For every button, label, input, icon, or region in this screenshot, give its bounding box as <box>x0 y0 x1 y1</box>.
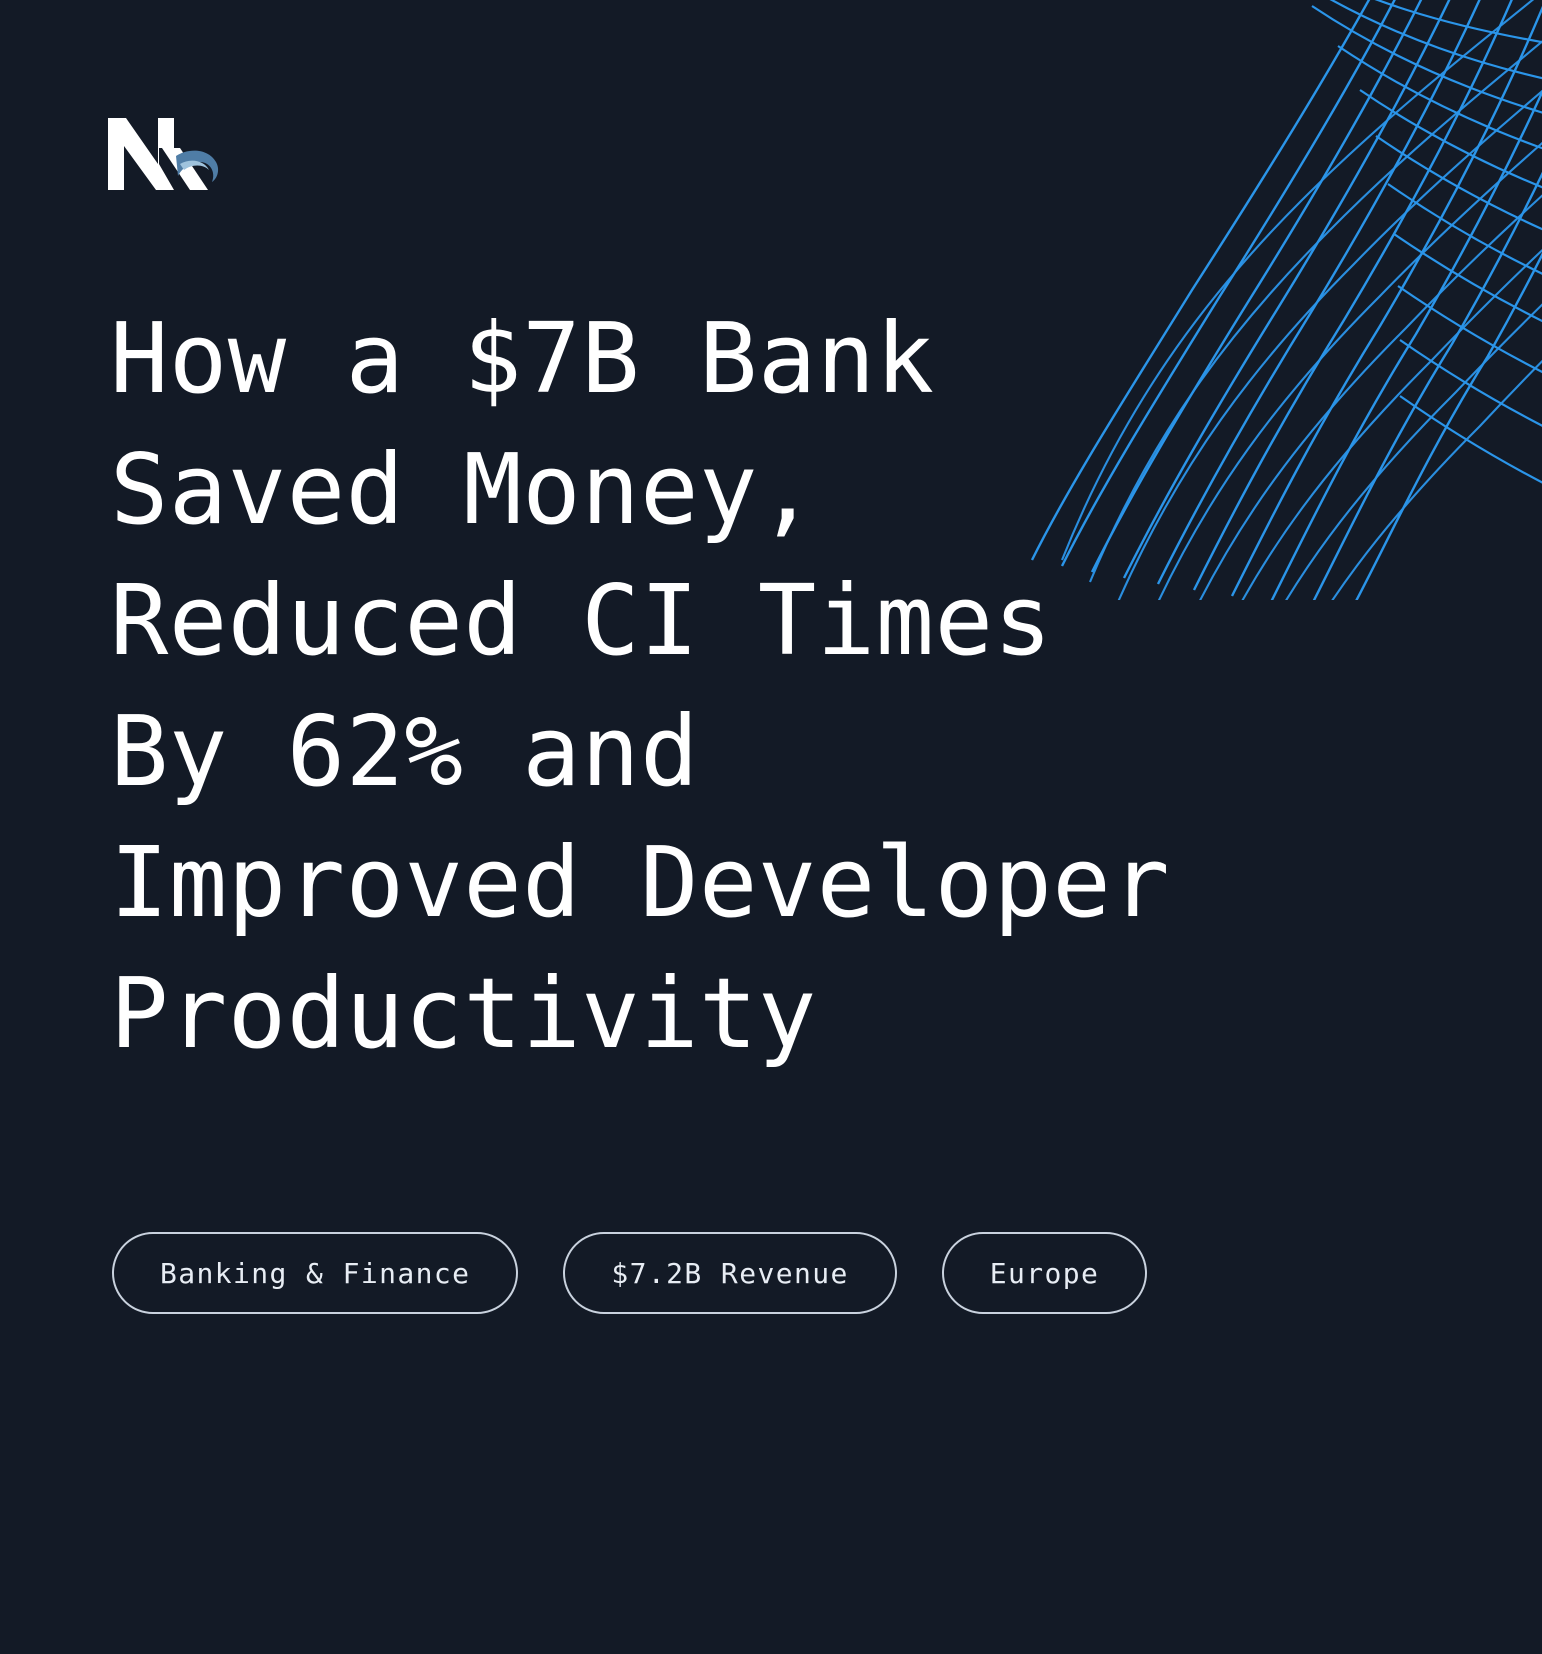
tag-list: Banking & Finance $7.2B Revenue Europe <box>112 1232 1147 1314</box>
tag-pill-industry[interactable]: Banking & Finance <box>112 1232 518 1314</box>
nx-logo[interactable] <box>104 112 228 194</box>
tag-pill-region[interactable]: Europe <box>942 1232 1148 1314</box>
tag-pill-revenue[interactable]: $7.2B Revenue <box>563 1232 896 1314</box>
case-study-hero-card: How a $7B Bank Saved Money, Reduced CI T… <box>0 0 1542 1654</box>
page-title: How a $7B Bank Saved Money, Reduced CI T… <box>110 293 1440 1079</box>
